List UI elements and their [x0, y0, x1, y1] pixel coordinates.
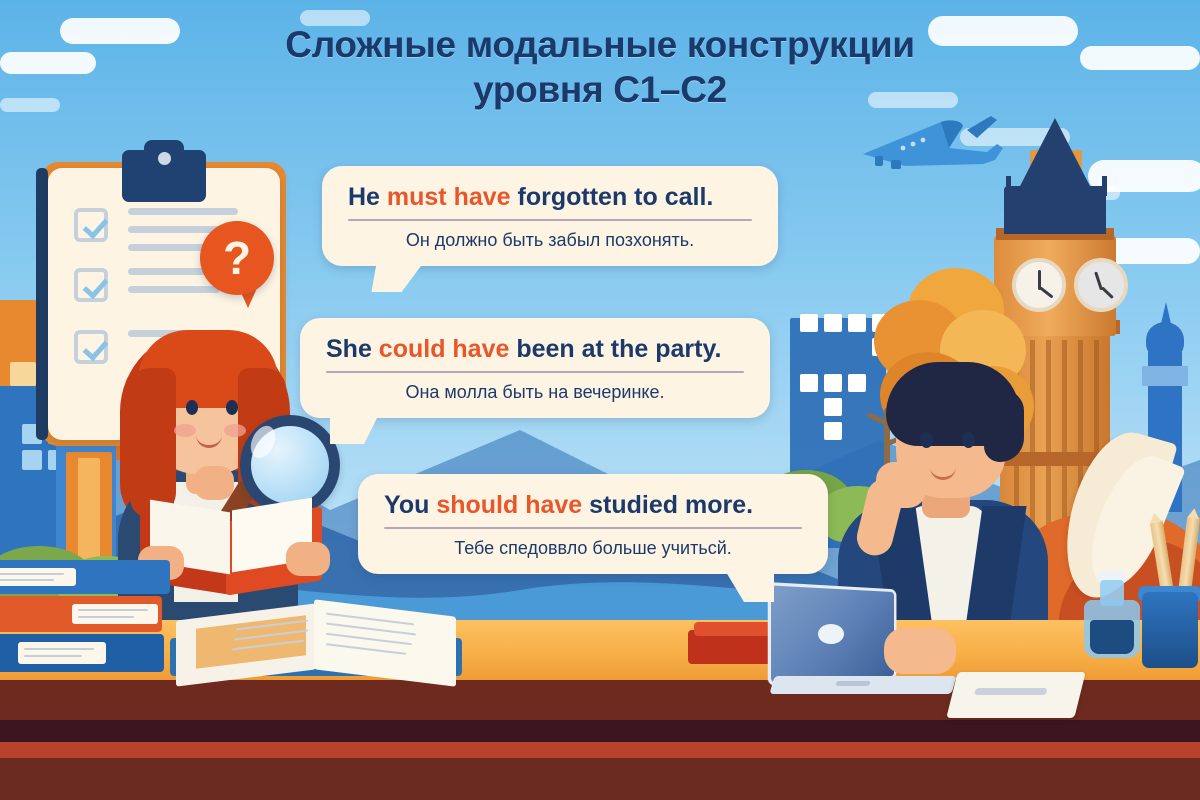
clock-face-right [1074, 258, 1128, 312]
woman-hand [286, 542, 330, 576]
speech-bubble-1: He must have forgotten to call. Он должн… [322, 166, 778, 266]
bubble-1-prefix: He [348, 183, 387, 211]
man-hand-on-chin [876, 462, 926, 508]
title-line-2: уровня C1–C2 [0, 67, 1200, 112]
woman-hand [194, 466, 234, 500]
window [800, 314, 818, 332]
bubble-3-russian: Тебе спедоввло больше учитьсй. [384, 537, 802, 560]
ink-bottle-fill [1090, 620, 1134, 654]
notepad-line [974, 688, 1048, 695]
big-ben-spike [1006, 176, 1011, 196]
bubble-3-tail [726, 572, 774, 602]
window [800, 374, 818, 392]
woman-cheek [174, 424, 196, 437]
building [78, 458, 100, 568]
checkbox-item[interactable] [74, 268, 108, 302]
bubble-1-tail [372, 264, 423, 292]
bubble-1-russian: Он должно быть забыл позхонять. [348, 229, 752, 252]
man-hair-side [984, 390, 1024, 462]
bubble-2-prefix: She [326, 335, 379, 363]
title-line-1: Сложные модальные конструкции [285, 24, 914, 65]
page-title: Сложные модальные конструкции уровня C1–… [0, 22, 1200, 112]
big-ben-spike [1102, 176, 1107, 196]
bubble-3-highlight: should have [436, 491, 582, 519]
speech-bubble-2: She could have been at the party. Она мо… [300, 318, 770, 418]
man-eye [962, 432, 975, 448]
question-mark-icon: ? [200, 221, 274, 295]
blue-tower-tip [1160, 302, 1172, 328]
bubble-1-divider [348, 219, 752, 221]
window [824, 314, 842, 332]
blue-tower-band [1142, 366, 1188, 386]
bubble-3-prefix: You [384, 491, 436, 519]
clock-face-left [1012, 258, 1066, 312]
pencil-cup [1142, 592, 1198, 668]
clipboard-spine [36, 168, 48, 440]
big-ben-roof [1018, 118, 1092, 190]
window [848, 314, 866, 332]
book-label [0, 568, 76, 586]
notepad [946, 672, 1085, 718]
window [22, 450, 42, 470]
desk-edge [0, 720, 1200, 744]
clock-hour-hand [1039, 286, 1053, 298]
window [848, 374, 866, 392]
woman-eye [186, 400, 198, 415]
laptop-logo [818, 624, 844, 644]
bubble-3-suffix: studied more. [582, 491, 753, 519]
checkbox-item[interactable] [74, 208, 108, 242]
book-label [72, 604, 158, 624]
bubble-1-suffix: forgotten to call. [511, 183, 714, 211]
woman-hair-side [130, 368, 176, 518]
bubble-2-suffix: been at the party. [509, 335, 721, 363]
laptop-trackpad[interactable] [835, 681, 870, 686]
big-ben-belfry [1004, 186, 1106, 234]
bubble-2-divider [326, 371, 744, 373]
book-label [18, 642, 106, 664]
checkbox-item[interactable] [74, 330, 108, 364]
window [824, 398, 842, 416]
airplane-icon [845, 108, 1005, 178]
bubble-3-divider [384, 527, 802, 529]
woman-cheek [224, 424, 246, 437]
question-mark-badge: ? [200, 221, 274, 295]
bubble-1-english: He must have forgotten to call. [348, 182, 752, 212]
window [10, 362, 36, 386]
bubble-3-english: You should have studied more. [384, 490, 802, 520]
window [824, 422, 842, 440]
bubble-2-english: She could have been at the party. [326, 334, 744, 364]
man-hand-on-keyboard [884, 628, 956, 674]
window [824, 374, 842, 392]
clipboard-clip-hole [158, 152, 171, 165]
speech-bubble-3: You should have studied more. Тебе спедо… [358, 474, 828, 574]
desk-front-panel [0, 758, 1200, 800]
checklist-line [128, 208, 238, 215]
clock-hour-hand [1101, 286, 1114, 299]
bubble-2-russian: Она молла быть на вечеринке. [326, 381, 744, 404]
man-eye [920, 432, 933, 448]
poster-scene: ? [0, 0, 1200, 800]
bubble-2-highlight: could have [379, 335, 510, 363]
woman-eye [226, 400, 238, 415]
bubble-1-highlight: must have [387, 183, 511, 211]
bubble-2-tail [330, 416, 378, 444]
